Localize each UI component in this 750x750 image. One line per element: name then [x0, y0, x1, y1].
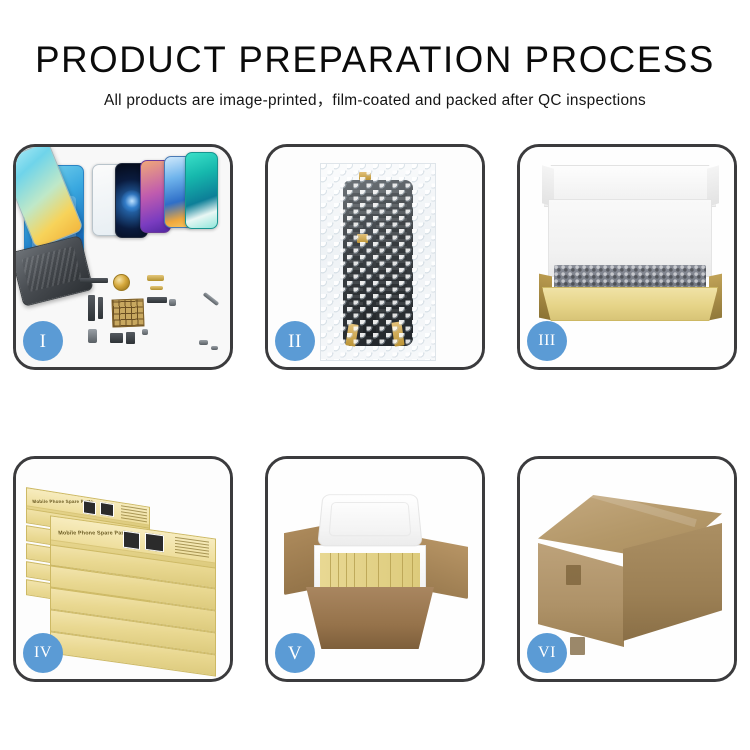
step-badge-1: I [23, 321, 63, 361]
box-print-swatch-front-2 [145, 533, 164, 553]
carton-body-graphic [306, 587, 434, 649]
box-print-swatch-back-2 [100, 502, 114, 517]
tape-graphic-2 [357, 234, 368, 243]
box-print-swatch-front-1 [123, 531, 140, 550]
flex-cable-graphic-2 [88, 295, 95, 321]
bubble-wrap-bag-graphic [320, 163, 436, 361]
page-subtitle: All products are image-printed，film-coat… [0, 91, 750, 110]
flex-cable-graphic-1 [80, 278, 108, 283]
sim-tray-graphic [88, 329, 97, 343]
tape-graphic-1 [359, 172, 371, 180]
gold-contact-graphic-2 [150, 286, 163, 290]
gold-contact-graphic-1 [147, 275, 164, 281]
step-badge-2: II [275, 321, 315, 361]
page-title: PRODUCT PREPARATION PROCESS [4, 38, 747, 82]
carton-left-face-graphic [538, 543, 624, 647]
phone-screen-graphic-4 [185, 152, 218, 229]
vibrator-graphic [126, 332, 135, 344]
step-card-parts-printing[interactable]: I [13, 144, 233, 370]
foam-lid-graphic [317, 494, 423, 546]
box-print-swatch-back-1 [83, 500, 96, 515]
flex-strip-graphic [363, 218, 376, 336]
carton-tape-graphic-1 [566, 565, 581, 585]
box-front-panel-graphic [542, 287, 718, 321]
product-preparation-infographic: PRODUCT PREPARATION PROCESS All products… [0, 0, 750, 750]
process-row-2: Mobile Phone Spare Parts [13, 456, 738, 682]
packed-boxes-graphic [320, 553, 420, 591]
carton-tape-graphic-2 [570, 637, 585, 655]
screw-graphic-2 [142, 329, 148, 335]
screw-graphic-3 [199, 340, 208, 345]
process-steps-grid: I II [13, 144, 738, 682]
step-card-bubble-wrap[interactable]: II [265, 144, 485, 370]
screw-graphic-4 [211, 346, 218, 350]
step-card-foam-carton[interactable]: V [265, 456, 485, 682]
tape-graphic-3 [345, 323, 358, 346]
header: PRODUCT PREPARATION PROCESS All products… [0, 38, 750, 110]
camera-module-graphic [110, 333, 123, 343]
step-badge-3: III [527, 321, 567, 361]
connector-grid-graphic [112, 298, 145, 327]
step-badge-5: V [275, 633, 315, 673]
step-card-box-stack[interactable]: Mobile Phone Spare Parts [13, 456, 233, 682]
wrapped-part-graphic [343, 180, 413, 346]
step-badge-4: IV [23, 633, 63, 673]
box-label-front: Mobile Phone Spare Parts [58, 530, 129, 536]
step-card-inner-box[interactable]: III [517, 144, 737, 370]
speaker-module-graphic [113, 274, 130, 291]
step-card-sealed-carton[interactable]: VI [517, 456, 737, 682]
flex-cable-graphic-3 [98, 297, 103, 319]
tweezers-graphic [203, 292, 220, 306]
flex-cable-graphic-4 [147, 297, 167, 303]
step-badge-6: VI [527, 633, 567, 673]
tape-graphic-4 [391, 321, 404, 346]
process-row-1: I II [13, 144, 738, 370]
screw-graphic-1 [169, 299, 176, 306]
